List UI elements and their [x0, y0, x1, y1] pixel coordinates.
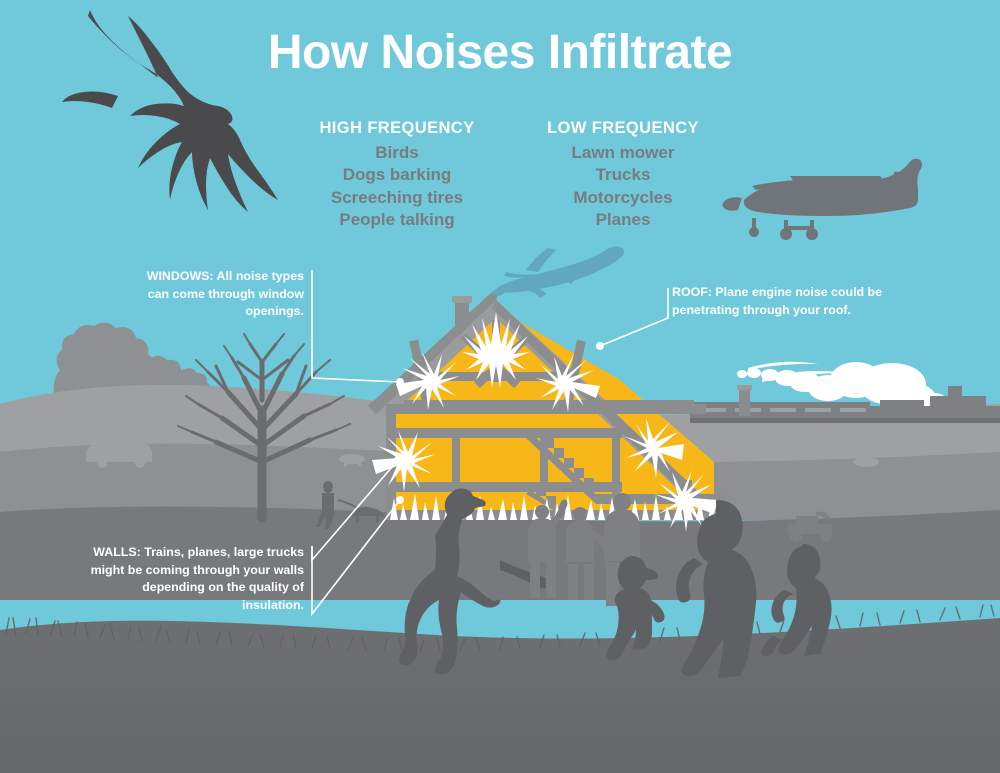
callout-roof: ROOF: Plane engine noise could be penetr…	[672, 284, 918, 319]
high-frequency-item: Birds	[282, 142, 512, 164]
high-frequency-list: HIGH FREQUENCY Birds Dogs barking Screec…	[282, 119, 512, 232]
callout-windows: WINDOWS: All noise types can come throug…	[124, 268, 304, 321]
page-title: How Noises Infiltrate	[0, 28, 1000, 78]
high-frequency-item: People talking	[282, 209, 512, 231]
high-frequency-item: Screeching tires	[282, 187, 512, 209]
low-frequency-item: Lawn mower	[508, 142, 738, 164]
low-frequency-item: Trucks	[508, 164, 738, 186]
callout-roof-keyword: ROOF:	[672, 285, 712, 299]
callout-windows-keyword: WINDOWS:	[147, 269, 214, 283]
callout-walls: WALLS: Trains, planes, large trucks migh…	[82, 544, 304, 614]
callout-walls-keyword: WALLS:	[93, 545, 141, 559]
low-frequency-heading: LOW FREQUENCY	[508, 119, 738, 138]
foreground-band	[0, 618, 1000, 773]
chimney-secondary	[739, 388, 750, 416]
high-frequency-heading: HIGH FREQUENCY	[282, 119, 512, 138]
low-frequency-list: LOW FREQUENCY Lawn mower Trucks Motorcyc…	[508, 119, 738, 232]
infographic-canvas: How Noises Infiltrate HIGH FREQUENCY Bir…	[0, 0, 1000, 773]
high-frequency-item: Dogs barking	[282, 164, 512, 186]
low-frequency-item: Planes	[508, 209, 738, 231]
scene-illustration	[0, 0, 1000, 773]
low-frequency-item: Motorcycles	[508, 187, 738, 209]
